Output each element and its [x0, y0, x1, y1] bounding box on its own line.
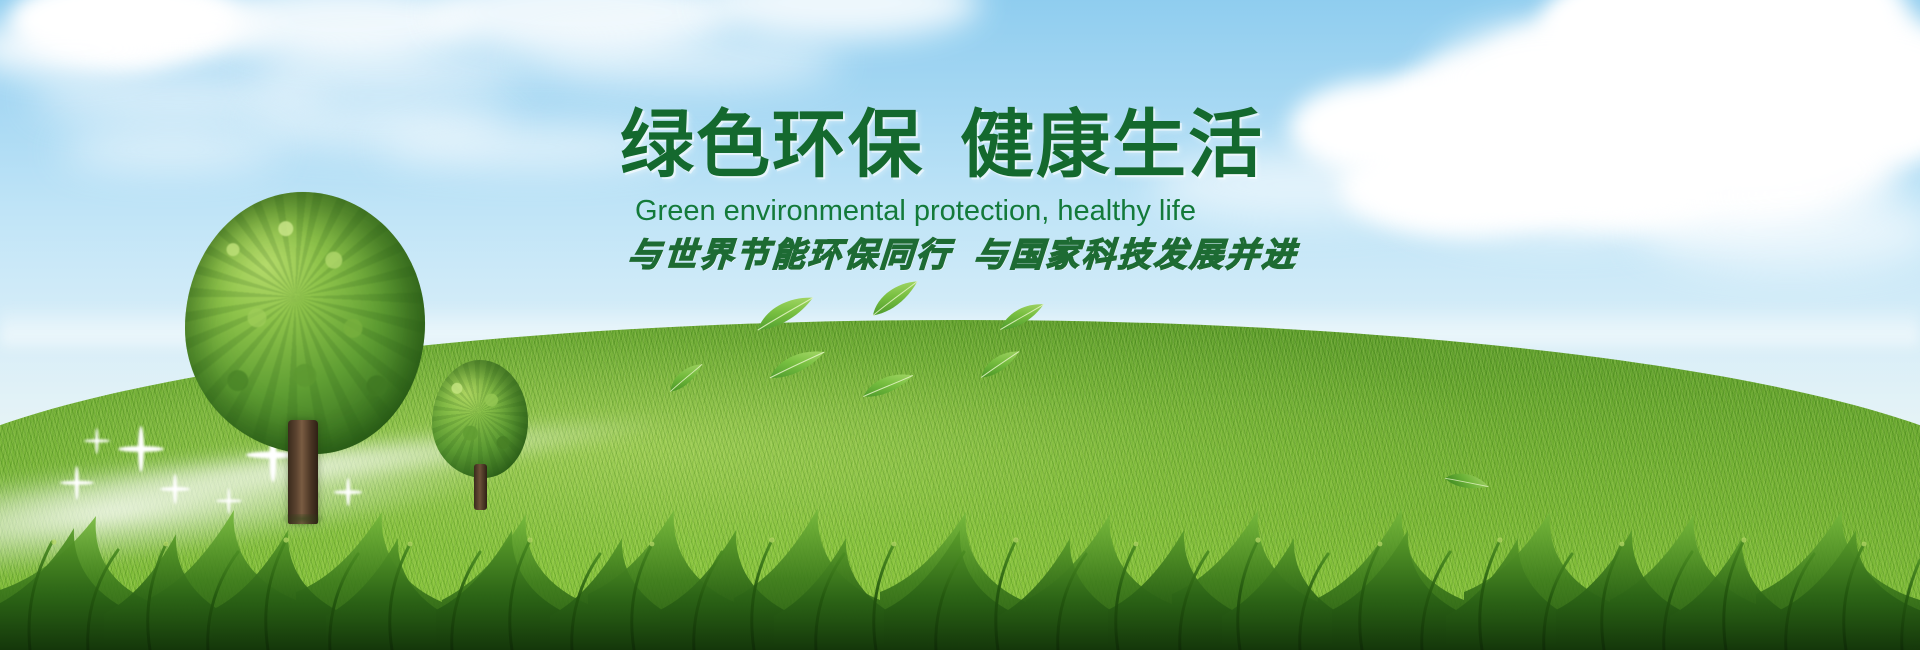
cloud-icon — [700, 0, 980, 40]
tree-foliage-texture — [185, 192, 425, 454]
tree-large — [185, 192, 425, 522]
cloud-icon — [520, 34, 840, 88]
cloud-icon — [1150, 150, 1450, 220]
eco-banner: 绿色环保健康生活 Green environmental protection,… — [0, 0, 1920, 650]
tree-foliage-texture — [432, 360, 528, 478]
cloud-icon — [250, 46, 530, 98]
cloud-icon — [0, 18, 170, 78]
cloud-icon — [60, 130, 280, 170]
grass-blade-border — [0, 480, 1920, 650]
cloud-icon — [1640, 190, 1920, 270]
cloud-icon — [380, 126, 680, 168]
